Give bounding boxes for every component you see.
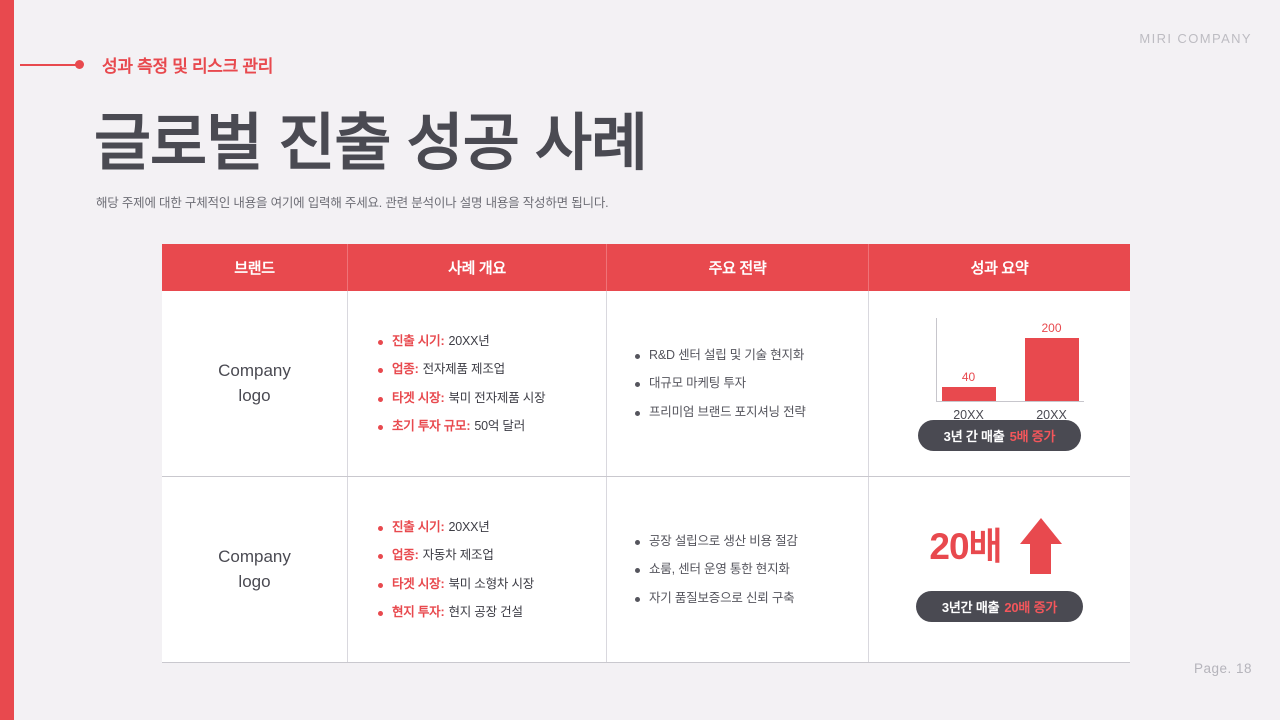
arrow-up-icon (1012, 518, 1070, 574)
column-header-result: 성과 요약 (869, 244, 1130, 291)
brand-cell: Company logo (162, 477, 348, 662)
overview-label: 초기 투자 규모: (392, 420, 470, 433)
bullet-dot-icon (378, 368, 383, 373)
badge-main-text: 3년 간 매출 (944, 426, 1005, 445)
page-number: Page. 18 (1194, 661, 1252, 676)
overview-value: 북미 전자제품 시장 (448, 392, 545, 405)
comparison-table: 브랜드 사례 개요 주요 전략 성과 요약 Company logo 진출 시기… (162, 244, 1130, 663)
strategy-text: 공장 설립으로 생산 비용 절감 (649, 535, 798, 548)
list-item: 공장 설립으로 생산 비용 절감 (635, 535, 850, 548)
brand-name-line2: logo (218, 384, 291, 409)
overview-value: 전자제품 제조업 (423, 363, 505, 376)
chart-x-axis (936, 401, 1084, 402)
list-item: 타겟 시장: 북미 전자제품 시장 (378, 392, 588, 405)
badge-accent-text: 5배 증가 (1010, 426, 1056, 445)
overview-value: 20XX년 (448, 521, 489, 534)
strategy-text: R&D 센터 설립 및 기술 현지화 (649, 349, 804, 362)
column-header-overview: 사례 개요 (348, 244, 607, 291)
overview-value: 북미 소형차 시장 (448, 578, 534, 591)
strategy-list: 공장 설립으로 생산 비용 절감 쇼룸, 센터 운영 통한 현지화 자기 품질보… (607, 477, 868, 662)
overview-value: 20XX년 (448, 335, 489, 348)
column-header-brand: 브랜드 (162, 244, 348, 291)
strategy-text: 프리미엄 브랜드 포지셔닝 전략 (649, 406, 806, 419)
overview-label: 업종: (392, 363, 419, 376)
growth-metric: 20배 (929, 517, 1069, 575)
eyebrow-line (20, 64, 76, 66)
left-accent-bar (0, 0, 14, 720)
strategy-cell: 공장 설립으로 생산 비용 절감 쇼룸, 센터 운영 통한 현지화 자기 품질보… (607, 477, 869, 662)
bullet-dot-icon (635, 411, 640, 416)
strategy-text: 대규모 마케팅 투자 (649, 377, 746, 390)
chart-y-axis (936, 318, 937, 402)
result-cell: 40 200 20XX 20XX 3년 간 매출 5배 증가 (869, 291, 1130, 476)
overview-label: 타겟 시장: (392, 578, 444, 591)
bullet-dot-icon (635, 382, 640, 387)
column-header-strategy: 주요 전략 (607, 244, 869, 291)
bullet-dot-icon (378, 611, 383, 616)
status-badge: 3년 간 매출 5배 증가 (918, 420, 1082, 451)
chart-bar (942, 387, 996, 401)
list-item: 업종: 자동차 제조업 (378, 549, 588, 562)
eyebrow-label: 성과 측정 및 리스크 관리 (102, 52, 273, 77)
strategy-list: R&D 센터 설립 및 기술 현지화 대규모 마케팅 투자 프리미엄 브랜드 포… (607, 291, 868, 476)
chart-category-label: 20XX (1017, 408, 1087, 422)
chart-category-label: 20XX (934, 408, 1004, 422)
bullet-dot-icon (635, 354, 640, 359)
list-item: 진출 시기: 20XX년 (378, 335, 588, 348)
bullet-dot-icon (378, 583, 383, 588)
brand-cell: Company logo (162, 291, 348, 476)
eyebrow-dot-icon (75, 60, 84, 69)
table-body: Company logo 진출 시기: 20XX년 업종: 전자제품 제조업 (162, 291, 1130, 663)
overview-label: 현지 투자: (392, 606, 444, 619)
badge-accent-text: 20배 증가 (1004, 597, 1057, 616)
overview-label: 업종: (392, 549, 419, 562)
list-item: 프리미엄 브랜드 포지셔닝 전략 (635, 406, 850, 419)
overview-list: 진출 시기: 20XX년 업종: 자동차 제조업 타겟 시장: 북미 소형차 시… (348, 477, 606, 662)
bullet-dot-icon (378, 554, 383, 559)
overview-list: 진출 시기: 20XX년 업종: 전자제품 제조업 타겟 시장: 북미 전자제품… (348, 291, 606, 476)
chart-value-label: 40 (942, 370, 996, 384)
table-row: Company logo 진출 시기: 20XX년 업종: 전자제품 제조업 (162, 291, 1130, 477)
table-row: Company logo 진출 시기: 20XX년 업종: 자동차 제조업 (162, 477, 1130, 663)
list-item: 자기 품질보증으로 신뢰 구축 (635, 592, 850, 605)
brandmark: MIRI COMPANY (1139, 31, 1252, 46)
list-item: 업종: 전자제품 제조업 (378, 363, 588, 376)
brand-name-line1: Company (218, 545, 291, 570)
bullet-dot-icon (635, 597, 640, 602)
overview-value: 50억 달러 (474, 420, 525, 433)
list-item: 타겟 시장: 북미 소형차 시장 (378, 578, 588, 591)
bullet-dot-icon (378, 397, 383, 402)
strategy-text: 자기 품질보증으로 신뢰 구축 (649, 592, 794, 605)
bullet-dot-icon (378, 340, 383, 345)
table-header-row: 브랜드 사례 개요 주요 전략 성과 요약 (162, 244, 1130, 291)
page-title: 글로벌 진출 성공 사례 (94, 92, 647, 182)
brand-name-line1: Company (218, 359, 291, 384)
chart-value-label: 200 (1025, 321, 1079, 335)
brand-name-line2: logo (218, 570, 291, 595)
bullet-dot-icon (635, 540, 640, 545)
overview-label: 진출 시기: (392, 521, 444, 534)
bullet-dot-icon (378, 425, 383, 430)
overview-label: 진출 시기: (392, 335, 444, 348)
metric-value: 20배 (929, 528, 1001, 565)
badge-main-text: 3년간 매출 (942, 597, 999, 616)
overview-label: 타겟 시장: (392, 392, 444, 405)
overview-value: 현지 공장 건설 (448, 606, 522, 619)
list-item: R&D 센터 설립 및 기술 현지화 (635, 349, 850, 362)
overview-value: 자동차 제조업 (423, 549, 494, 562)
overview-cell: 진출 시기: 20XX년 업종: 자동차 제조업 타겟 시장: 북미 소형차 시… (348, 477, 607, 662)
list-item: 초기 투자 규모: 50억 달러 (378, 420, 588, 433)
list-item: 쇼룸, 센터 운영 통한 현지화 (635, 563, 850, 576)
strategy-cell: R&D 센터 설립 및 기술 현지화 대규모 마케팅 투자 프리미엄 브랜드 포… (607, 291, 869, 476)
eyebrow-row: 성과 측정 및 리스크 관리 (20, 52, 273, 77)
bullet-dot-icon (635, 568, 640, 573)
page-subtitle: 해당 주제에 대한 구체적인 내용을 여기에 입력해 주세요. 관련 분석이나 … (96, 192, 608, 211)
list-item: 진출 시기: 20XX년 (378, 521, 588, 534)
bullet-dot-icon (378, 526, 383, 531)
overview-cell: 진출 시기: 20XX년 업종: 전자제품 제조업 타겟 시장: 북미 전자제품… (348, 291, 607, 476)
chart-bar (1025, 338, 1079, 401)
result-cell: 20배 3년간 매출 20배 증가 (869, 477, 1130, 662)
list-item: 대규모 마케팅 투자 (635, 377, 850, 390)
status-badge: 3년간 매출 20배 증가 (916, 591, 1083, 622)
strategy-text: 쇼룸, 센터 운영 통한 현지화 (649, 563, 790, 576)
revenue-bar-chart: 40 200 20XX 20XX (912, 316, 1088, 416)
list-item: 현지 투자: 현지 공장 건설 (378, 606, 588, 619)
